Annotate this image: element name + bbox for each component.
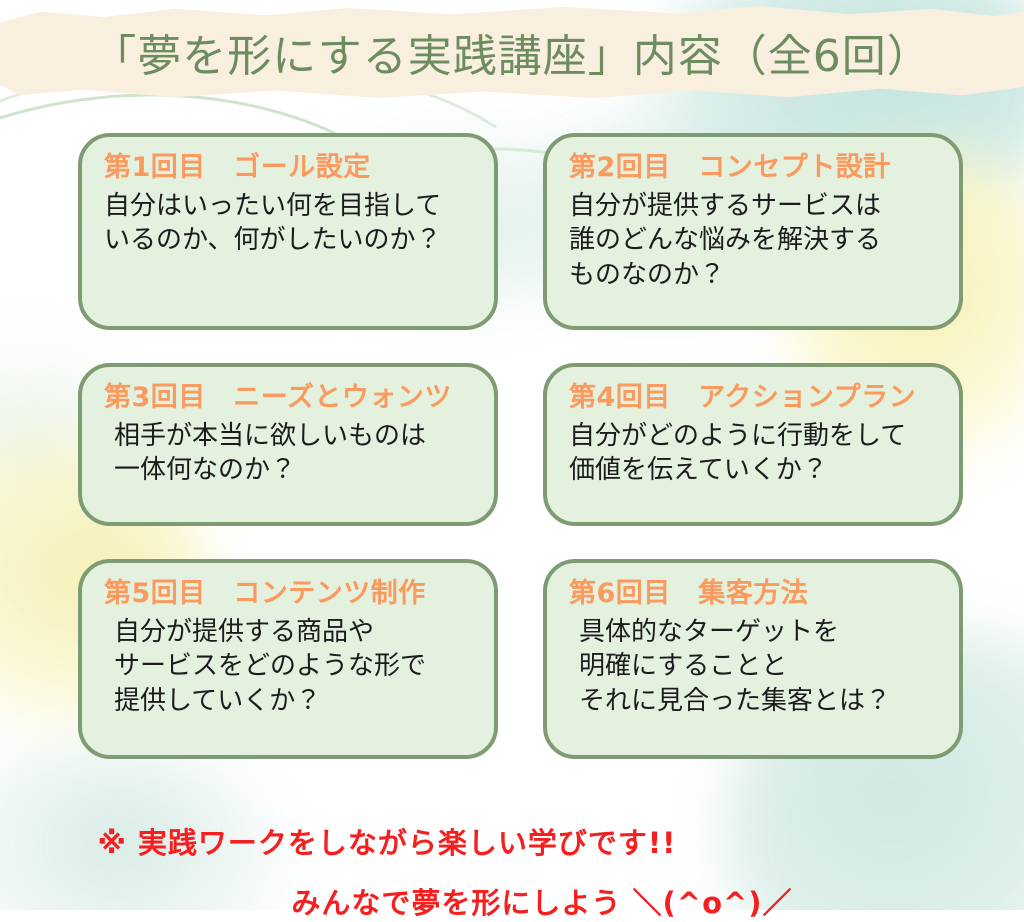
session-card-6-body: 具体的なターゲットを 明確にすることと それに見合った集客とは？ (569, 615, 941, 719)
footer-note-line-2: みんなで夢を形にしよう ＼(^o^)／ (0, 880, 1024, 922)
session-card-6-title: 第6回目 集客方法 (569, 577, 941, 611)
session-card-5: 第5回目 コンテンツ制作 自分が提供する商品や サービスをどのような形で 提供し… (78, 559, 498, 759)
session-card-3-body: 相手が本当に欲しいものは 一体何なのか？ (104, 419, 476, 488)
session-card-2: 第2回目 コンセプト設計 自分が提供するサービスは 誰のどんな悩みを解決する も… (543, 133, 963, 330)
footer-note-line-1: ※ 実践ワークをしながら楽しい学びです!! (0, 820, 1024, 862)
session-card-4-body: 自分がどのように行動をして 価値を伝えていくか？ (569, 419, 941, 488)
session-card-2-body: 自分が提供するサービスは 誰のどんな悩みを解決する ものなのか？ (569, 189, 941, 293)
session-card-5-title: 第5回目 コンテンツ制作 (104, 577, 476, 611)
session-card-3: 第3回目 ニーズとウォンツ 相手が本当に欲しいものは 一体何なのか？ (78, 363, 498, 526)
footer-note: ※ 実践ワークをしながら楽しい学びです!! みんなで夢を形にしよう ＼(^o^)… (0, 820, 1024, 922)
session-card-3-title: 第3回目 ニーズとウォンツ (104, 381, 476, 415)
page-title: 「夢を形にする実践講座」内容（全6回） (0, 0, 1024, 104)
session-card-1: 第1回目 ゴール設定 自分はいったい何を目指して いるのか、何がしたいのか？ (78, 133, 498, 330)
session-card-4-title: 第4回目 アクションプラン (569, 381, 941, 415)
title-banner: 「夢を形にする実践講座」内容（全6回） (0, 0, 1024, 108)
session-card-1-title: 第1回目 ゴール設定 (104, 151, 476, 185)
session-card-2-title: 第2回目 コンセプト設計 (569, 151, 941, 185)
session-card-6: 第6回目 集客方法 具体的なターゲットを 明確にすることと それに見合った集客と… (543, 559, 963, 759)
session-card-4: 第4回目 アクションプラン 自分がどのように行動をして 価値を伝えていくか？ (543, 363, 963, 526)
session-card-grid: 第1回目 ゴール設定 自分はいったい何を目指して いるのか、何がしたいのか？ 第… (78, 133, 958, 759)
session-card-1-body: 自分はいったい何を目指して いるのか、何がしたいのか？ (104, 189, 476, 258)
session-card-5-body: 自分が提供する商品や サービスをどのような形で 提供していくか？ (104, 615, 476, 719)
